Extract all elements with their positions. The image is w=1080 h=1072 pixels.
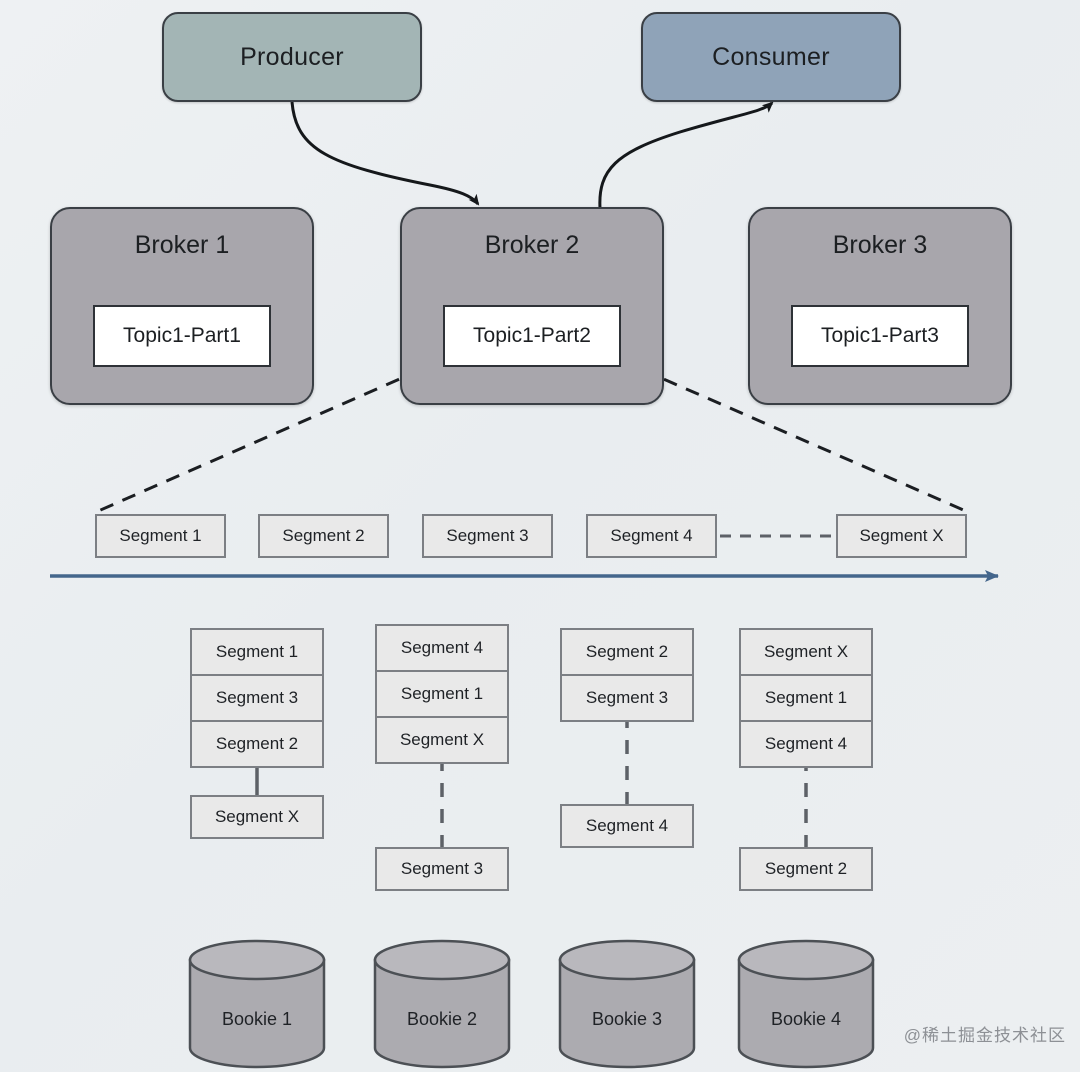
stack-1-item-3[interactable]: Segment 2 <box>190 720 324 768</box>
broker-3-title: Broker 3 <box>750 231 1010 260</box>
broker-2-topic-box[interactable]: Topic1-Part2 <box>443 305 621 367</box>
stack-3-item-1[interactable]: Segment 2 <box>560 628 694 674</box>
broker-1-topic-label: Topic1-Part1 <box>123 324 241 348</box>
broker-1-topic-box[interactable]: Topic1-Part1 <box>93 305 271 367</box>
segment-label: Segment 4 <box>765 734 847 754</box>
stack-3: Segment 2 Segment 3 <box>560 628 694 722</box>
segment-label: Segment 2 <box>216 734 298 754</box>
segment-row-item-1[interactable]: Segment 1 <box>95 514 226 558</box>
broker-3-topic-box[interactable]: Topic1-Part3 <box>791 305 969 367</box>
segment-label: Segment 4 <box>401 638 483 658</box>
bookie-3-node[interactable]: Bookie 3 <box>560 941 694 1067</box>
segment-row-label: Segment 2 <box>282 526 364 546</box>
stack-1-item-2[interactable]: Segment 3 <box>190 674 324 720</box>
stack-2-detached-item[interactable]: Segment 3 <box>375 847 509 891</box>
segment-row-item-5[interactable]: Segment X <box>836 514 967 558</box>
bookie-2-node[interactable]: Bookie 2 <box>375 941 509 1067</box>
diagram-canvas: Producer Consumer Broker 1 Topic1-Part1 … <box>0 0 1080 1072</box>
bookie-4-node[interactable]: Bookie 4 <box>739 941 873 1067</box>
stack-1-detached-item[interactable]: Segment X <box>190 795 324 839</box>
segment-row-label: Segment 3 <box>446 526 528 546</box>
segment-label: Segment 3 <box>401 859 483 879</box>
stack-3-item-2[interactable]: Segment 3 <box>560 674 694 722</box>
broker-1-node[interactable]: Broker 1 Topic1-Part1 <box>50 207 314 405</box>
bookie-1-label: Bookie 1 <box>190 1009 324 1030</box>
segment-row-label: Segment 4 <box>610 526 692 546</box>
segment-label: Segment 2 <box>765 859 847 879</box>
segment-label: Segment X <box>400 730 484 750</box>
segment-label: Segment 3 <box>586 688 668 708</box>
segment-label: Segment 3 <box>216 688 298 708</box>
stack-4: Segment X Segment 1 Segment 4 <box>739 628 873 768</box>
segment-label: Segment 4 <box>586 816 668 836</box>
segment-row-item-4[interactable]: Segment 4 <box>586 514 717 558</box>
stack-4-item-2[interactable]: Segment 1 <box>739 674 873 720</box>
producer-node[interactable]: Producer <box>162 12 422 102</box>
segment-label: Segment 2 <box>586 642 668 662</box>
producer-label: Producer <box>240 43 344 72</box>
stack-4-detached-item[interactable]: Segment 2 <box>739 847 873 891</box>
segment-row-item-3[interactable]: Segment 3 <box>422 514 553 558</box>
broker-2-node[interactable]: Broker 2 Topic1-Part2 <box>400 207 664 405</box>
stack-4-item-1[interactable]: Segment X <box>739 628 873 674</box>
broker-3-topic-label: Topic1-Part3 <box>821 324 939 348</box>
stack-2-item-3[interactable]: Segment X <box>375 716 509 764</box>
segment-label: Segment 1 <box>216 642 298 662</box>
segment-row-label: Segment X <box>859 526 943 546</box>
flow-producer-to-broker2 <box>292 102 478 204</box>
bookie-1-node[interactable]: Bookie 1 <box>190 941 324 1067</box>
segment-row-item-2[interactable]: Segment 2 <box>258 514 389 558</box>
segment-row-label: Segment 1 <box>119 526 201 546</box>
stack-1-item-1[interactable]: Segment 1 <box>190 628 324 674</box>
broker-2-topic-label: Topic1-Part2 <box>473 324 591 348</box>
stack-2: Segment 4 Segment 1 Segment X <box>375 624 509 764</box>
broker-2-title: Broker 2 <box>402 231 662 260</box>
broker-1-title: Broker 1 <box>52 231 312 260</box>
flow-broker2-to-consumer <box>600 103 772 208</box>
segment-label: Segment 1 <box>765 688 847 708</box>
segment-label: Segment X <box>764 642 848 662</box>
watermark: @稀土掘金技术社区 <box>904 1021 1066 1046</box>
stack-2-item-1[interactable]: Segment 4 <box>375 624 509 670</box>
stack-4-item-3[interactable]: Segment 4 <box>739 720 873 768</box>
bookie-2-label: Bookie 2 <box>375 1009 509 1030</box>
stack-2-item-2[interactable]: Segment 1 <box>375 670 509 716</box>
consumer-label: Consumer <box>712 43 830 72</box>
consumer-node[interactable]: Consumer <box>641 12 901 102</box>
bookie-4-label: Bookie 4 <box>739 1009 873 1030</box>
broker-3-node[interactable]: Broker 3 Topic1-Part3 <box>748 207 1012 405</box>
segment-label: Segment X <box>215 807 299 827</box>
segment-label: Segment 1 <box>401 684 483 704</box>
stack-3-detached-item[interactable]: Segment 4 <box>560 804 694 848</box>
bookie-3-label: Bookie 3 <box>560 1009 694 1030</box>
stack-1: Segment 1 Segment 3 Segment 2 <box>190 628 324 768</box>
